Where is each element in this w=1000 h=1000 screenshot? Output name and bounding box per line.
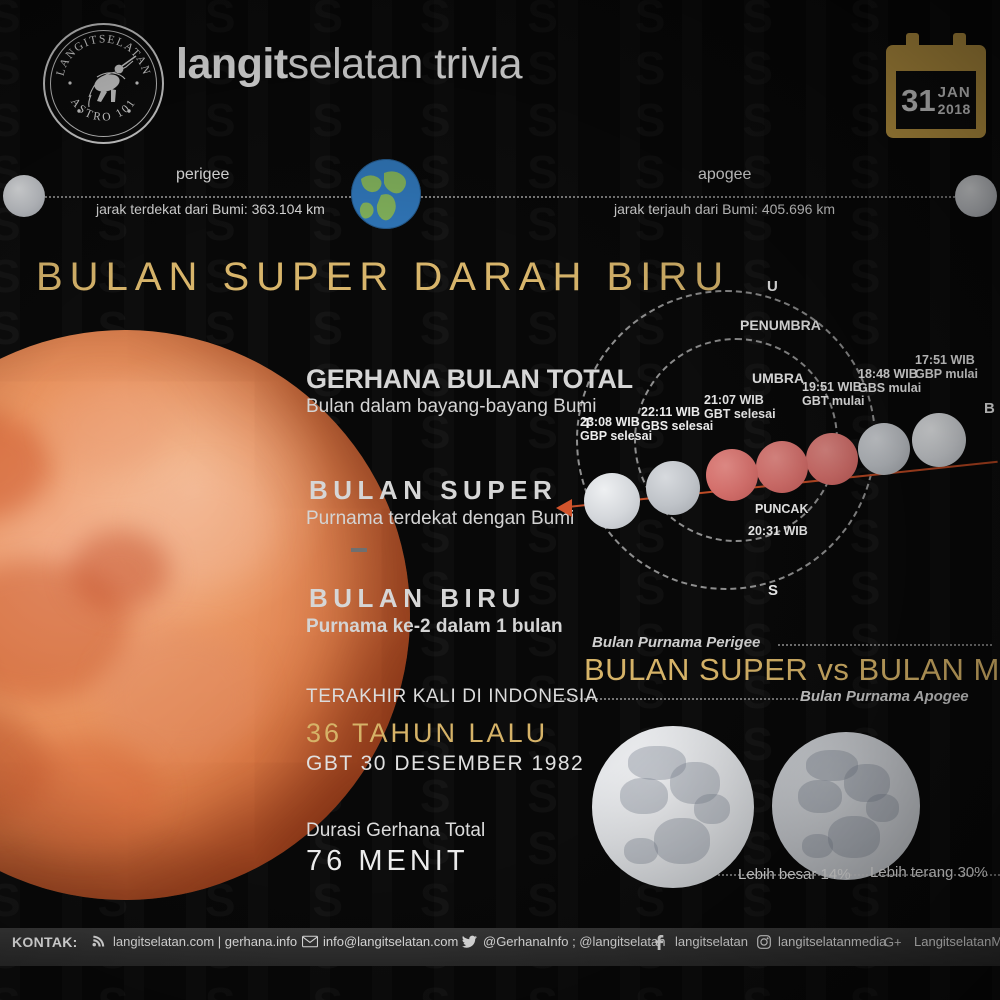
super-vs-mini-section: Bulan Purnama Perigee BULAN SUPER vs BUL…: [560, 632, 1000, 902]
moon-position-1848: [858, 423, 910, 475]
feature-sub-bulan-super: Purnama terdekat dengan Bumi: [306, 508, 574, 530]
event-1751: 17:51 WIB GBP mulai: [915, 353, 978, 381]
compare-top-italic: Bulan Purnama Perigee: [592, 634, 760, 651]
calendar-year: 2018: [938, 102, 971, 116]
compare-title: BULAN SUPER vs BULAN MINI: [584, 652, 1000, 688]
calendar-month: JAN: [938, 85, 971, 100]
umbra-label: UMBRA: [752, 370, 804, 386]
event-2107-name: GBT selesai: [704, 407, 776, 421]
event-1848-name: GBS mulai: [858, 381, 921, 395]
compare-bottom-dotted-line: [560, 698, 798, 700]
apogee-distance: jarak terjauh dari Bumi: 405.696 km: [614, 201, 835, 217]
orbit-dotted-line: [18, 196, 982, 198]
footer-item-email[interactable]: info@langitselatan.com: [302, 934, 458, 949]
event-1848: 18:48 WIB GBS mulai: [858, 367, 921, 395]
event-2107: 21:07 WIB GBT selesai: [704, 393, 776, 421]
event-1951: 19:51 WIB GBT mulai: [802, 380, 865, 408]
compare-bottom-italic: Bulan Purnama Apogee: [800, 688, 969, 705]
caption-lebih-besar: Lebih besar 14%: [738, 866, 851, 883]
perigee-moon-icon: [3, 175, 45, 217]
event-1848-time: 18:48 WIB: [858, 367, 918, 381]
moon-position-2107: [706, 449, 758, 501]
path-arrow-head-icon: [556, 499, 572, 517]
brand-title: langitselatan trivia: [176, 40, 522, 89]
axis-label-u: U: [767, 278, 778, 295]
event-2211-time: 22:11 WIB: [641, 405, 700, 419]
footer-website-text: langitselatan.com | gerhana.info: [113, 934, 297, 949]
event-2211: 22:11 WIB GBS selesai: [641, 405, 713, 433]
axis-label-s: S: [768, 582, 778, 599]
section-divider-dash: [351, 548, 367, 552]
event-2308-time: 23:08 WIB: [580, 415, 640, 429]
footer-facebook-text: langitselatan: [675, 934, 748, 949]
brand-part-selatan: selatan: [288, 40, 423, 88]
twitter-icon: [462, 935, 477, 949]
feature-heading-bulan-biru: BULAN BIRU: [309, 583, 526, 614]
event-1751-name: GBP mulai: [915, 367, 978, 381]
langitselatan-logo-badge: LANGITSELATAN ASTRO 101: [43, 23, 164, 144]
duration-label: Durasi Gerhana Total: [306, 820, 485, 842]
footer-item-googleplus[interactable]: G+ LangitselatanMedia: [884, 934, 1000, 949]
brand-part-langit: langit: [176, 40, 288, 88]
perigee-label: perigee: [176, 166, 229, 184]
logo-emblem-icon: LANGITSELATAN ASTRO 101: [45, 25, 162, 142]
moon-position-1951: [806, 433, 858, 485]
axis-label-b: B: [984, 400, 995, 417]
event-2211-name: GBS selesai: [641, 419, 713, 433]
footer-email-text: info@langitselatan.com: [323, 934, 458, 949]
envelope-icon: [302, 935, 317, 949]
peak-time: 20:31 WIB: [748, 524, 808, 538]
apogee-label: apogee: [698, 166, 751, 184]
instagram-icon: [757, 935, 772, 949]
duration-value: 76 MENIT: [306, 845, 469, 878]
calendar-month-year: JAN 2018: [938, 85, 971, 116]
svg-text:G+: G+: [884, 935, 902, 949]
footer-kontak-label: KONTAK:: [12, 934, 78, 950]
svg-text:LANGITSELATAN: LANGITSELATAN: [55, 33, 153, 77]
calendar-date-panel: 31 JAN 2018: [896, 71, 976, 129]
perigee-distance: jarak terdekat dari Bumi: 363.104 km: [96, 201, 325, 217]
footer-item-twitter[interactable]: @GerhanaInfo ; @langitselatan: [462, 934, 666, 949]
moon-position-2211: [646, 461, 700, 515]
footer-twitter-text: @GerhanaInfo ; @langitselatan: [483, 934, 666, 949]
calendar-icon: 31 JAN 2018: [886, 33, 986, 138]
footer-item-website[interactable]: langitselatan.com | gerhana.info: [92, 934, 297, 949]
mini-moon-circle: [772, 732, 920, 880]
event-2107-time: 21:07 WIB: [704, 393, 764, 407]
moon-position-1751: [912, 413, 966, 467]
event-1751-time: 17:51 WIB: [915, 353, 975, 367]
last-occurrence-date: GBT 30 DESEMBER 1982: [306, 752, 584, 776]
googleplus-icon: G+: [884, 935, 908, 949]
calendar-body: 31 JAN 2018: [886, 45, 986, 138]
peak-label: PUNCAK: [755, 502, 808, 516]
feature-heading-bulan-super: BULAN SUPER: [309, 475, 557, 506]
footer-instagram-text: langitselatanmedia: [778, 934, 886, 949]
footer-item-instagram[interactable]: langitselatanmedia: [757, 934, 886, 949]
footer-googleplus-text: LangitselatanMedia: [914, 934, 1000, 949]
last-occurrence-label: TERAKHIR KALI DI INDONESIA: [306, 686, 598, 708]
brand-part-trivia: trivia: [423, 40, 522, 88]
infographic-canvas: S S S S S S S S S S S S S S S S S S S S …: [0, 0, 1000, 1000]
caption-lebih-terang: Lebih terang 30%: [870, 864, 988, 881]
event-1951-time: 19:51 WIB: [802, 380, 862, 394]
super-moon-circle: [592, 726, 754, 888]
moon-position-2308: [584, 473, 640, 529]
moon-position-peak: [756, 441, 808, 493]
feature-sub-bulan-biru: Purnama ke-2 dalam 1 bulan: [306, 616, 563, 638]
event-1951-name: GBT mulai: [802, 394, 865, 408]
footer-item-facebook[interactable]: langitselatan: [654, 934, 748, 949]
rss-icon: [92, 935, 107, 949]
eclipse-path-diagram: U S T B PENUMBRA UMBRA 23:08 WIB GBP sel…: [540, 275, 1000, 615]
earth-icon: [351, 159, 421, 229]
calendar-day: 31: [901, 85, 935, 116]
apogee-moon-icon: [955, 175, 997, 217]
compare-top-dotted-line: [778, 644, 992, 646]
facebook-icon: [654, 935, 669, 949]
last-occurrence-years: 36 TAHUN LALU: [306, 718, 548, 749]
penumbra-label: PENUMBRA: [740, 317, 821, 333]
